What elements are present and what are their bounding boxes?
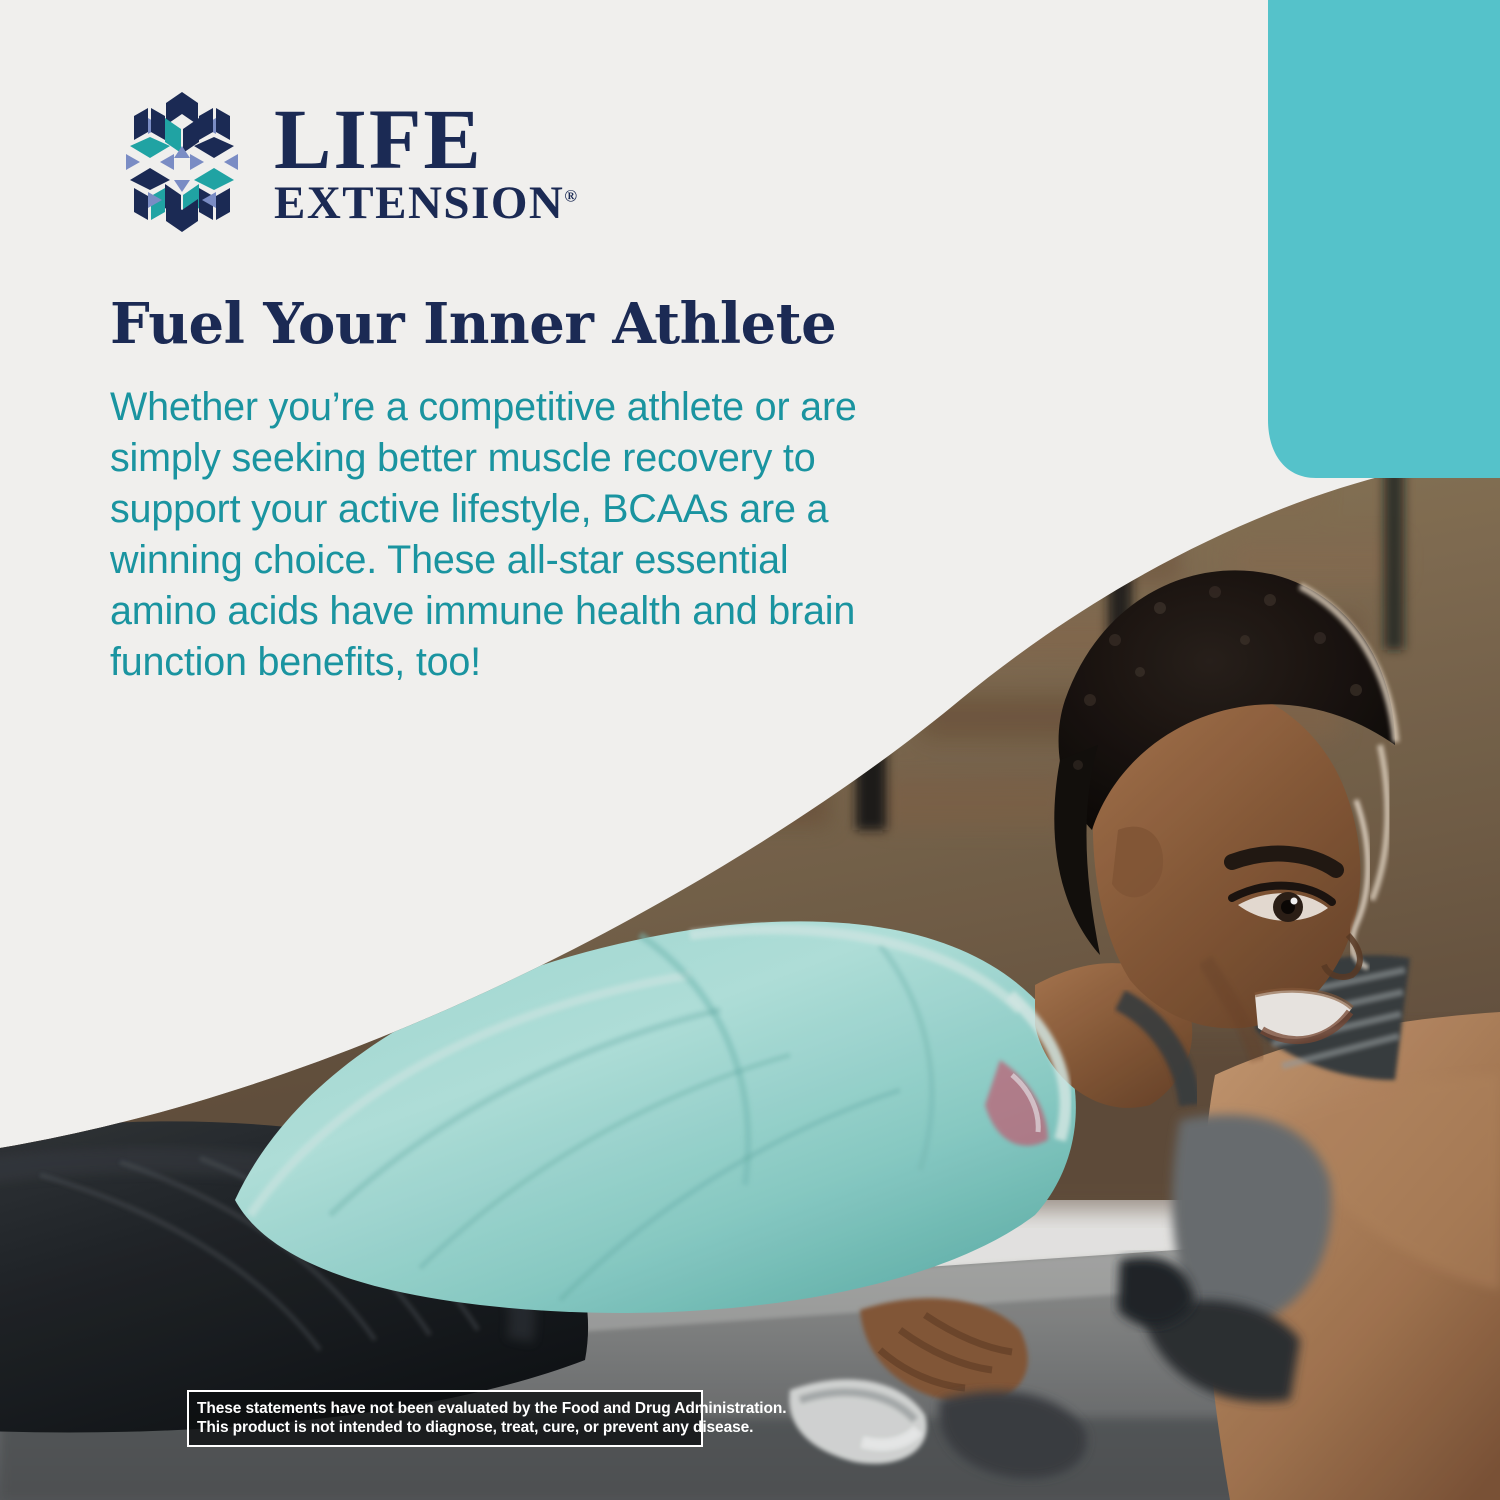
brand-name-extension: EXTENSION®	[274, 179, 577, 228]
body-paragraph: Whether you’re a competitive athlete or …	[110, 382, 900, 688]
hexagon-mandala-logo-icon	[112, 88, 252, 236]
fda-disclaimer: These statements have not been evaluated…	[187, 1390, 703, 1447]
brand-name-extension-text: EXTENSION	[274, 177, 564, 229]
disclaimer-line-1: These statements have not been evaluated…	[197, 1399, 693, 1418]
brand-name-life: LIFE	[274, 100, 577, 179]
marketing-banner: LIFE EXTENSION® Fuel Your Inner Athlete …	[0, 0, 1500, 1500]
brand-logo: LIFE EXTENSION®	[112, 88, 577, 236]
teal-corner-accent	[1224, 0, 1500, 480]
page-title: Fuel Your Inner Athlete	[110, 291, 836, 357]
disclaimer-line-2: This product is not intended to diagnose…	[197, 1418, 693, 1437]
brand-wordmark: LIFE EXTENSION®	[274, 96, 577, 228]
registered-trademark-mark: ®	[564, 186, 577, 205]
